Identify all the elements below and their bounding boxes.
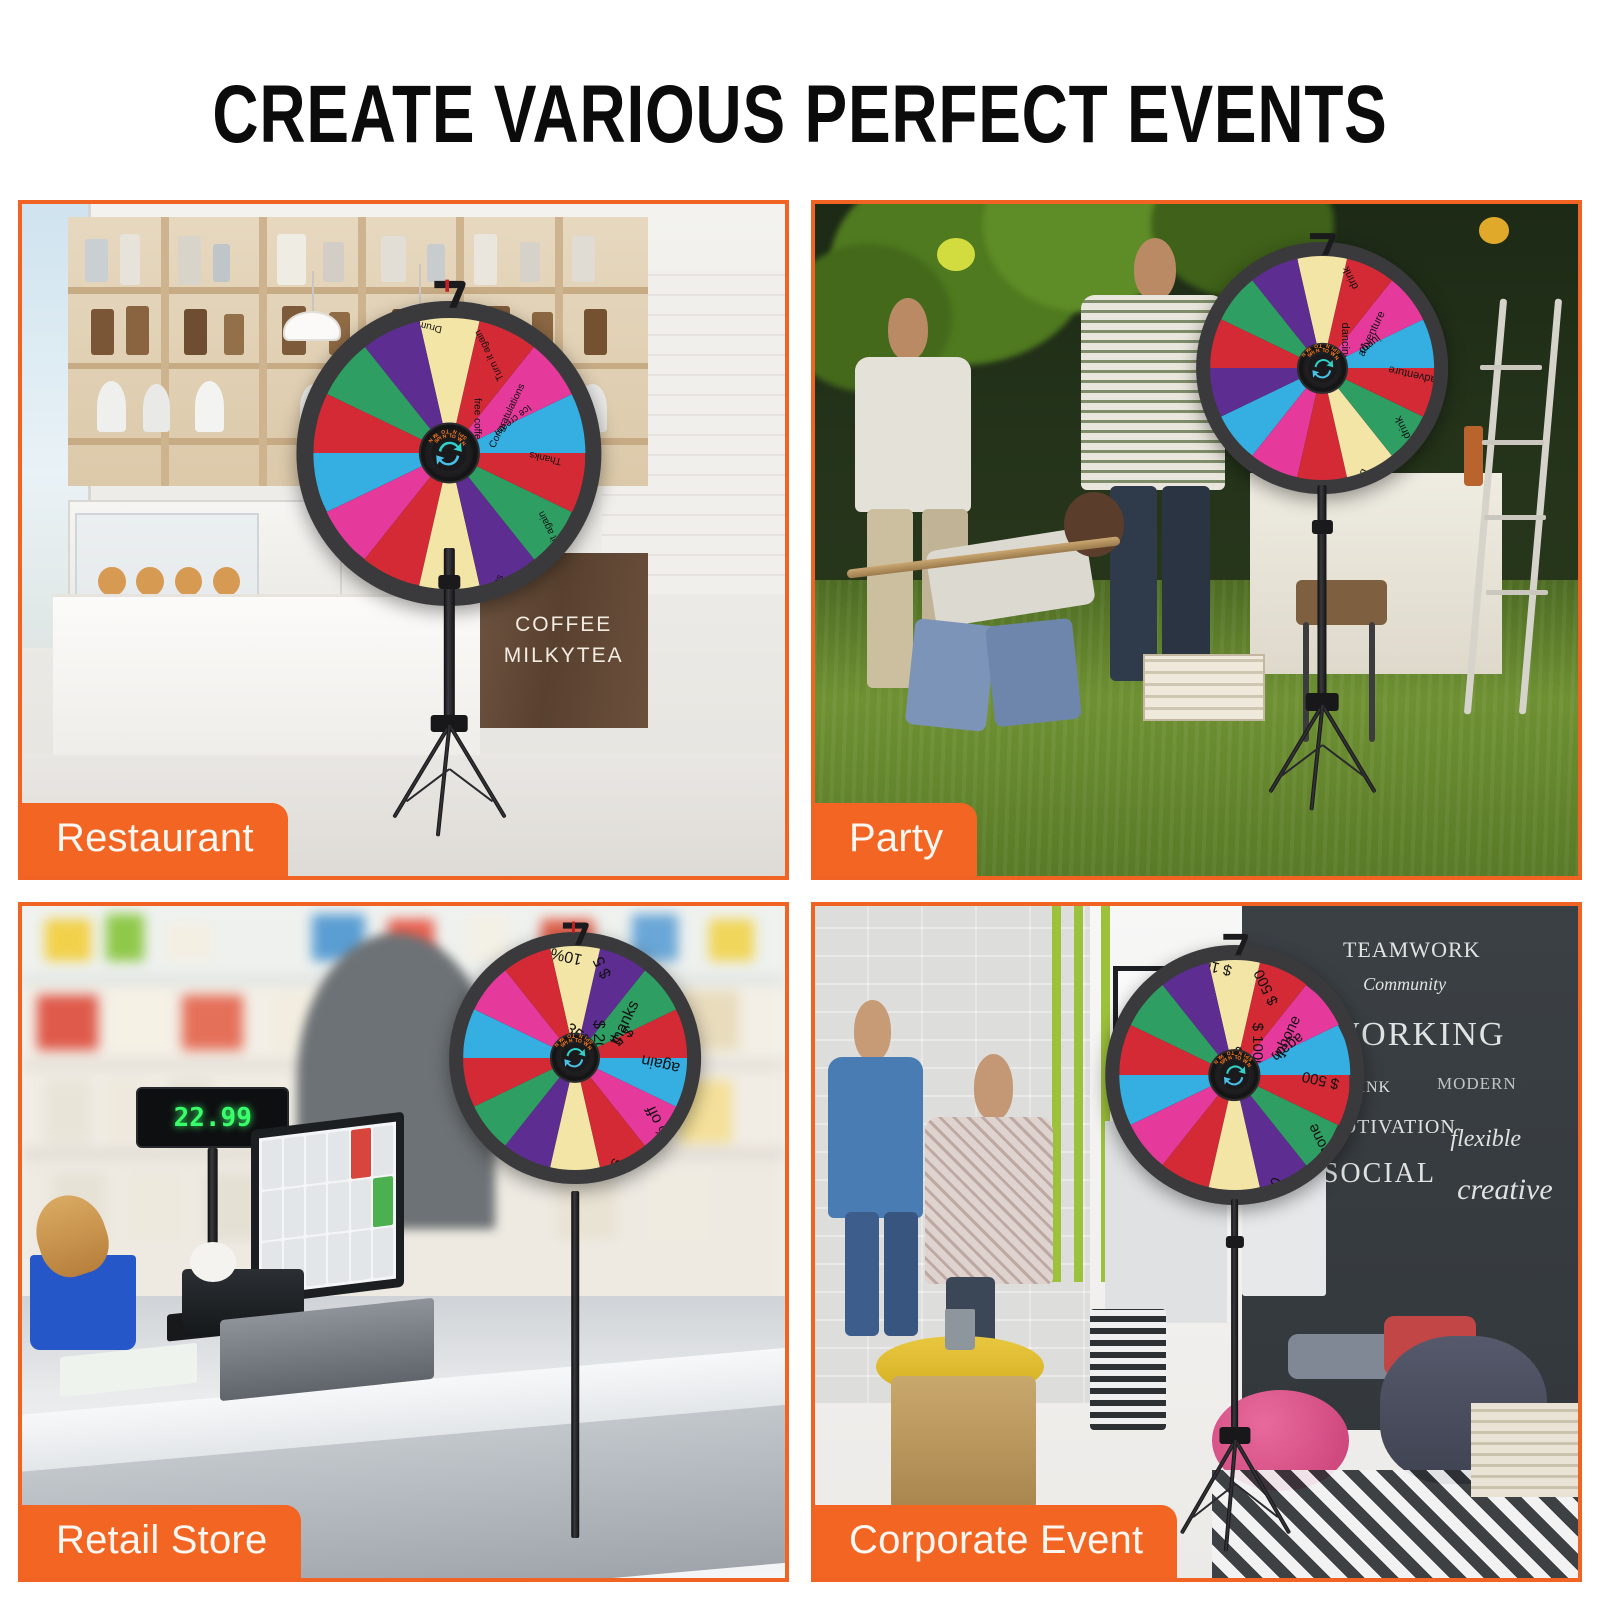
chalk-creative: creative xyxy=(1457,1173,1553,1207)
panel-grid: COFFEE MILKYTEA Cakefree dinnerfree coff… xyxy=(18,200,1582,1582)
receipt-roll xyxy=(190,1242,236,1282)
coffee-mug xyxy=(945,1309,976,1349)
wheel-pointer-icon xyxy=(425,274,474,317)
prize-wheel-unit-party[interactable]: jumpSingdancingjumpadventuredrinkdancing… xyxy=(1197,231,1449,809)
tripod-legs xyxy=(449,725,450,822)
height-adjust-knob[interactable] xyxy=(439,575,460,589)
wheel-stand-pole xyxy=(571,1191,579,1537)
height-adjust-knob[interactable] xyxy=(1312,520,1332,534)
wheel-hub: SPIN TO WINSPIN TO WIN xyxy=(550,1033,600,1083)
marketing-collage: CREATE VARIOUS PERFECT EVENTS xyxy=(0,0,1600,1600)
wheel-hub: SPIN TO WINSPIN TO WIN xyxy=(1209,1049,1261,1101)
chalk-modern: MODERN xyxy=(1437,1074,1517,1094)
prize-wheel-unit-restaurant[interactable]: Cakefree dinnerfree coffeeIce creamThank… xyxy=(297,285,602,823)
hub-spin-to-win-text: SPIN TO WINSPIN TO WIN xyxy=(552,1035,598,1081)
wheel-hub: SPIN TO WINSPIN TO WIN xyxy=(419,423,480,484)
panel-badge-party: Party xyxy=(815,803,977,876)
panel-badge-retail-store: Retail Store xyxy=(22,1505,301,1578)
panel-restaurant[interactable]: COFFEE MILKYTEA Cakefree dinnerfree coff… xyxy=(18,200,789,880)
prize-wheel-corporate[interactable]: $ 500$ 3000$ 1000again$ 500iphone$ 2000$… xyxy=(1105,945,1364,1204)
page-title: CREATE VARIOUS PERFECT EVENTS xyxy=(176,74,1424,156)
panel-corporate-event[interactable]: TEAMWORK Community COWORKING THINK MODER… xyxy=(811,902,1582,1582)
panel-badge-corporate-event: Corporate Event xyxy=(815,1505,1177,1578)
tripod-legs xyxy=(1322,705,1323,809)
wheel-stand-pole xyxy=(1318,485,1327,705)
wheel-pointer-icon xyxy=(555,913,595,956)
hub-spin-to-win-text: SPIN TO WINSPIN TO WIN xyxy=(1211,1051,1259,1099)
prize-wheel-party[interactable]: jumpSingdancingjumpadventuredrinkdancing… xyxy=(1197,242,1449,494)
tripod-legs xyxy=(1234,1440,1235,1551)
scene-corporate-event: TEAMWORK Community COWORKING THINK MODER… xyxy=(815,906,1578,1578)
spool-table-base xyxy=(891,1376,1036,1510)
wheel-pointer-icon xyxy=(1302,225,1342,265)
chalk-community: Community xyxy=(1363,974,1446,995)
prize-wheel-unit-corporate[interactable]: $ 500$ 3000$ 1000again$ 500iphone$ 2000$… xyxy=(1105,933,1364,1551)
prize-wheel-unit-retail[interactable]: $ 1035% off$ 20$ 5again10% offthanks$ 10… xyxy=(449,919,701,1537)
prize-wheel-retail[interactable]: $ 1035% off$ 20$ 5again10% offthanks$ 10… xyxy=(449,932,701,1184)
ladder xyxy=(1471,298,1578,715)
panel-retail-store[interactable]: 22.99 xyxy=(18,902,789,1582)
person-limbo-dancer xyxy=(876,486,1212,782)
wheel-pointer-icon xyxy=(1215,927,1254,964)
scene-party: jumpSingdancingjumpadventuredrinkdancing… xyxy=(815,204,1578,876)
panel-badge-restaurant: Restaurant xyxy=(22,803,288,876)
chalk-flexible: flexible xyxy=(1450,1126,1521,1153)
party-lantern xyxy=(937,238,975,272)
panel-party[interactable]: jumpSingdancingjumpadventuredrinkdancing… xyxy=(811,200,1582,880)
scene-restaurant: COFFEE MILKYTEA Cakefree dinnerfree coff… xyxy=(22,204,785,876)
hub-spin-to-win-text: SPIN TO WINSPIN TO WIN xyxy=(1299,345,1345,391)
wheel-hub: SPIN TO WINSPIN TO WIN xyxy=(1297,343,1347,393)
hub-spin-to-win-text: SPIN TO WINSPIN TO WIN xyxy=(421,425,478,482)
height-adjust-knob[interactable] xyxy=(1226,1236,1244,1248)
wooden-crate xyxy=(1471,1403,1578,1497)
scene-retail-store: 22.99 xyxy=(22,906,785,1578)
